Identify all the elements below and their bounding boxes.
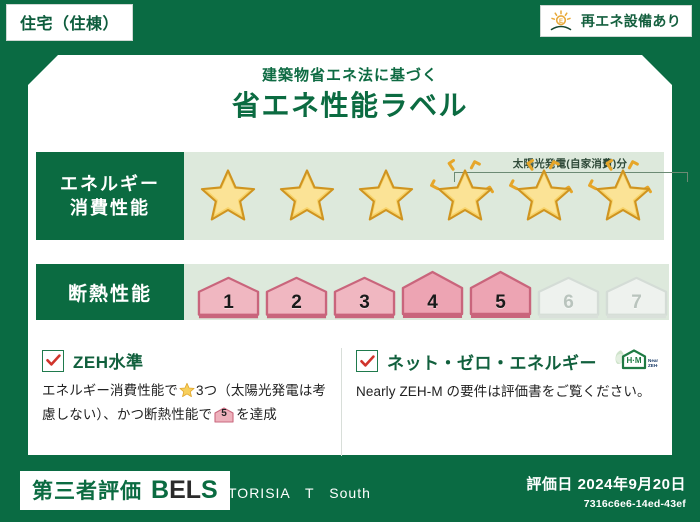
zeh-title: ZEH水準 (73, 348, 144, 373)
label-title: 省エネ性能ラベル (0, 84, 700, 124)
insulation-level-6: 6 (536, 276, 601, 320)
svg-text:H·M: H·M (626, 356, 641, 365)
housing-type-label: 住宅（住棟） (20, 16, 119, 33)
insulation-level-2: 2 (264, 276, 329, 320)
star-1 (188, 152, 267, 240)
zeh-body-pre: エネルギー消費性能で (42, 383, 178, 398)
bels-energy-label: 住宅（住棟） E 再エネ設備あり 建築物省エネ法に基づく 省エネ性能ラベル (0, 0, 700, 522)
insulation-level-7: 7 (604, 276, 669, 320)
bels-letter-e: E (169, 476, 186, 504)
insulation-key-label: 断熱性能 (68, 279, 152, 306)
star-3 (346, 152, 425, 240)
insulation-level-num: 7 (631, 292, 642, 320)
energy-performance-key: エネルギー 消費性能 (36, 152, 184, 240)
netzero-title: ネット・ゼロ・エネルギー (387, 349, 597, 374)
insulation-performance-key: 断熱性能 (36, 264, 184, 320)
checkmark-icon (42, 350, 64, 372)
insulation-level-4: 4 (400, 270, 465, 320)
energy-star-rating (184, 152, 662, 240)
netzero-heading: ネット・ゼロ・エネルギー H·M Nearly ZEH-M (356, 348, 658, 374)
svg-text:E: E (559, 19, 563, 25)
star-5 (504, 152, 583, 240)
insulation-level-1: 1 (196, 276, 261, 320)
netzero-description: Nearly ZEH-M の要件は評価書をご覧ください。 (356, 382, 658, 403)
insulation-level-num: 3 (359, 292, 370, 320)
bels-letter-b: B (151, 476, 169, 504)
inline-house-icon: 5 (214, 407, 234, 423)
zeh-m-logo: H·M Nearly ZEH-M (612, 348, 658, 374)
insulation-performance-value: 1234567 (184, 264, 669, 320)
zeh-body-post: を達成 (236, 407, 277, 422)
netzero-criteria-column: ネット・ゼロ・エネルギー H·M Nearly ZEH-M Nearly ZEH… (342, 348, 672, 456)
bels-letter-l: L (186, 476, 201, 504)
inline-star-icon (179, 382, 195, 405)
zeh-star-count: 3つ (196, 383, 217, 398)
housing-type-tab: 住宅（住棟） (6, 4, 133, 41)
energy-performance-row: エネルギー 消費性能 太陽光発電(自家消費)分 (36, 152, 664, 240)
zeh-m-logo-cap2: ZEH-M (648, 363, 658, 368)
renewable-energy-badge: E 再エネ設備あり (540, 5, 692, 37)
insulation-performance-row: 断熱性能 1234567 (36, 264, 664, 320)
label-subtitle: 建築物省エネ法に基づく (0, 64, 700, 85)
insulation-level-scale: 1234567 (184, 264, 669, 320)
footer-bar: 第三者評価 BELS TORISIA T South 評価日 2024年9月20… (0, 464, 700, 522)
energy-performance-value: 太陽光発電(自家消費)分 (184, 152, 664, 240)
star-2 (267, 152, 346, 240)
zeh-description: エネルギー消費性能で3つ（太陽光発電は考慮しない）、かつ断熱性能で5を達成 (42, 381, 327, 426)
zeh-criteria-column: ZEH水準 エネルギー消費性能で3つ（太陽光発電は考慮しない）、かつ断熱性能で5… (28, 348, 342, 456)
renewable-energy-label: 再エネ設備あり (581, 11, 681, 31)
energy-key-line1: エネルギー (60, 172, 160, 196)
bels-logo: 第三者評価 BELS (20, 471, 230, 510)
bels-en-label: BELS (151, 476, 218, 505)
insulation-level-num: 1 (223, 292, 234, 320)
insulation-level-5: 5 (468, 270, 533, 320)
building-name: TORISIA T South (228, 483, 371, 503)
zeh-heading: ZEH水準 (42, 348, 327, 373)
sun-solar-icon: E (549, 10, 575, 32)
evaluation-date: 評価日 2024年9月20日 (526, 473, 686, 494)
star-4 (425, 152, 504, 240)
bels-letter-s: S (201, 476, 218, 504)
inline-house-num: 5 (214, 406, 234, 422)
evaluation-id: 7316c6e6-14ed-43ef (584, 498, 686, 510)
insulation-level-num: 5 (495, 292, 506, 320)
energy-key-line2: 消費性能 (70, 196, 150, 220)
insulation-level-3: 3 (332, 276, 397, 320)
insulation-level-num: 2 (291, 292, 302, 320)
checkmark-icon (356, 350, 378, 372)
star-6 (583, 152, 662, 240)
insulation-level-num: 6 (563, 292, 574, 320)
bels-jp-label: 第三者評価 (32, 475, 142, 505)
insulation-level-num: 4 (427, 292, 438, 320)
criteria-columns: ZEH水準 エネルギー消費性能で3つ（太陽光発電は考慮しない）、かつ断熱性能で5… (28, 348, 672, 456)
